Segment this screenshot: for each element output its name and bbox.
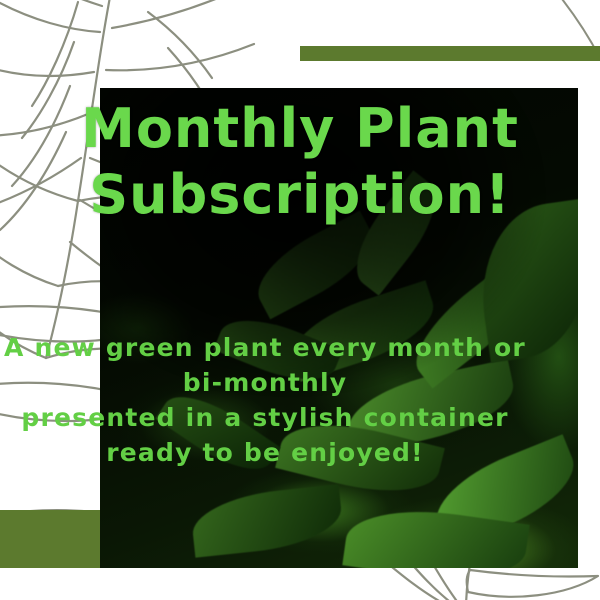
poster-canvas: Monthly Plant Subscription! A new green … [0, 0, 600, 600]
top-accent-bar [300, 46, 600, 61]
body-line-3: presented in a stylish container [0, 400, 530, 435]
poster-body-copy: A new green plant every month or bi-mont… [0, 330, 530, 470]
body-line-1: A new green plant every month or [0, 330, 530, 365]
headline-line-1: Monthly Plant [60, 96, 540, 162]
body-line-4: ready to be enjoyed! [0, 435, 530, 470]
body-line-2: bi-monthly [0, 365, 530, 400]
headline-line-2: Subscription! [60, 162, 540, 228]
poster-headline: Monthly Plant Subscription! [60, 96, 540, 228]
